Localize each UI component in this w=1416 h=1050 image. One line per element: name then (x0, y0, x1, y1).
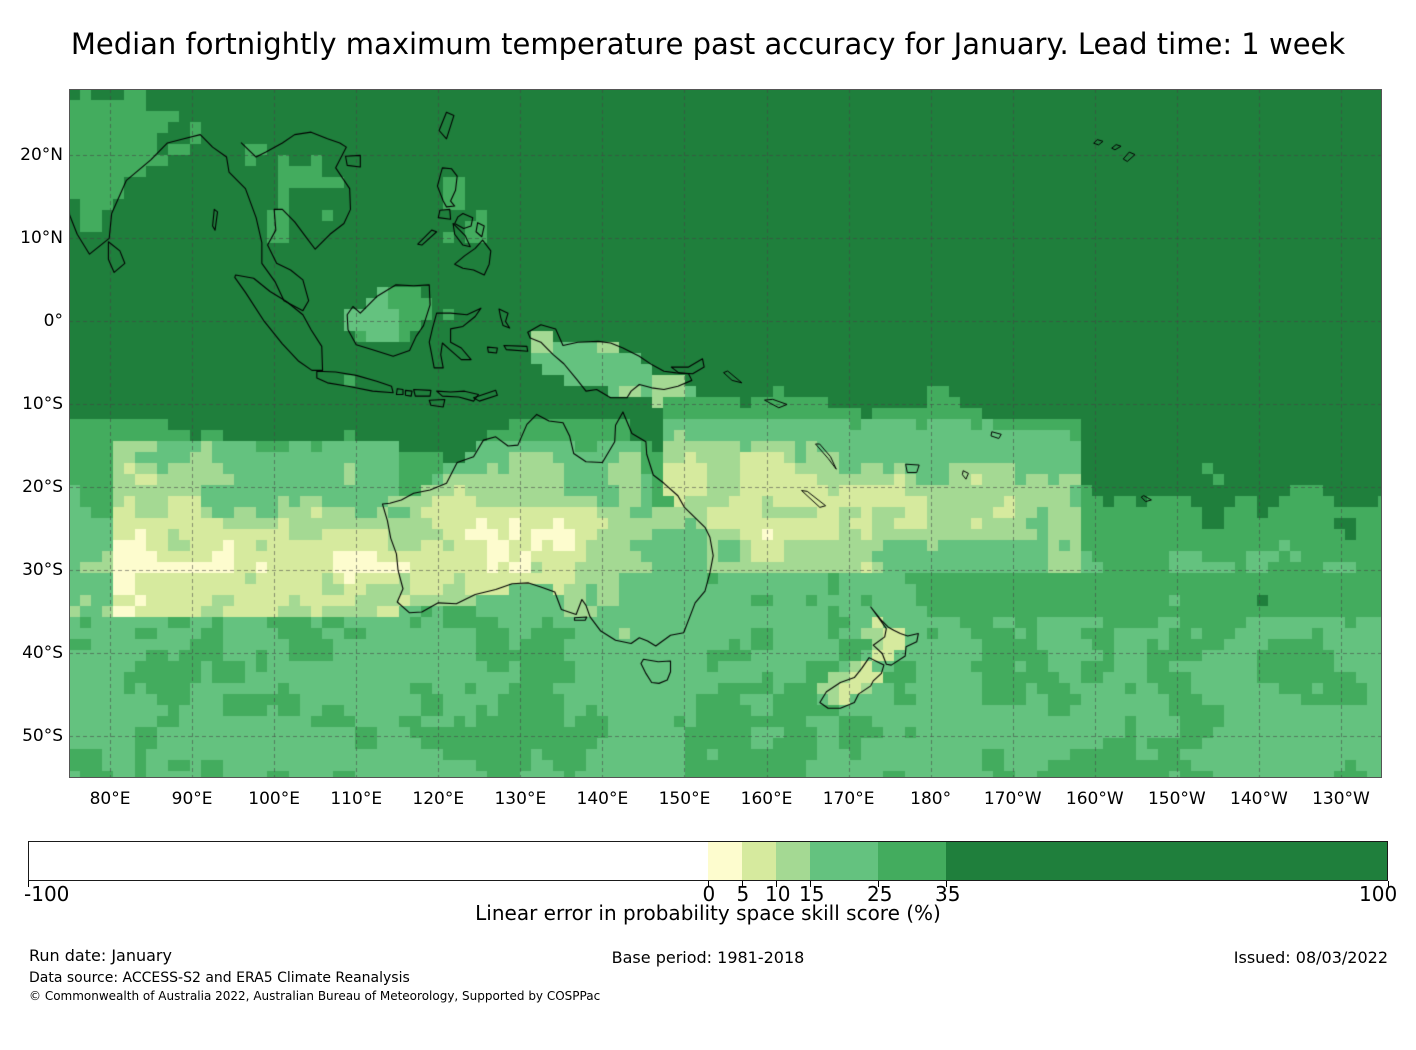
latitude-tick-label: 40°S (3, 645, 63, 662)
latitude-tick-label: 20°N (3, 147, 63, 164)
colorbar-segment (810, 842, 878, 880)
map-plot-area (69, 89, 1382, 778)
copyright-text: © Commonwealth of Australia 2022, Austra… (29, 989, 600, 1004)
longitude-tick-label: 100°E (248, 791, 300, 808)
colorbar (28, 841, 1388, 881)
longitude-tick-label: 180° (910, 791, 951, 808)
longitude-tick-label: 150°E (659, 791, 711, 808)
longitude-tick-label: 110°E (330, 791, 382, 808)
base-period-text: Base period: 1981-2018 (0, 948, 1416, 967)
colorbar-segment (29, 842, 708, 880)
latitude-tick-label: 10°S (3, 396, 63, 413)
latitude-tick-label: 0° (3, 313, 63, 330)
latitude-tick-label: 20°S (3, 479, 63, 496)
colorbar-label: Linear error in probability space skill … (0, 901, 1416, 925)
coastline-overlay (69, 89, 1382, 778)
colorbar-segment (776, 842, 810, 880)
colorbar-segment (708, 842, 742, 880)
longitude-tick-label: 160°E (741, 791, 793, 808)
data-source-text: Data source: ACCESS-S2 and ERA5 Climate … (29, 970, 410, 987)
latitude-tick-label: 30°S (3, 562, 63, 579)
longitude-tick-label: 170°E (823, 791, 875, 808)
longitude-tick-label: 140°E (577, 791, 629, 808)
longitude-tick-label: 150°W (1148, 791, 1206, 808)
colorbar-gradient (28, 841, 1388, 881)
colorbar-segment (946, 842, 1387, 880)
issued-date-text: Issued: 08/03/2022 (1234, 948, 1388, 967)
page-title: Median fortnightly maximum temperature p… (0, 27, 1416, 61)
longitude-tick-label: 160°W (1066, 791, 1124, 808)
longitude-tick-label: 140°W (1230, 791, 1288, 808)
colorbar-segment (742, 842, 776, 880)
longitude-tick-label: 120°E (412, 791, 464, 808)
latitude-tick-label: 50°S (3, 728, 63, 745)
longitude-tick-label: 80°E (90, 791, 131, 808)
longitude-tick-label: 90°E (172, 791, 213, 808)
colorbar-segment (878, 842, 946, 880)
latitude-tick-label: 10°N (3, 230, 63, 247)
longitude-tick-label: 170°W (984, 791, 1042, 808)
longitude-tick-label: 130°W (1312, 791, 1370, 808)
longitude-tick-label: 130°E (494, 791, 546, 808)
footer: Run date: January Base period: 1981-2018… (0, 946, 1416, 1006)
